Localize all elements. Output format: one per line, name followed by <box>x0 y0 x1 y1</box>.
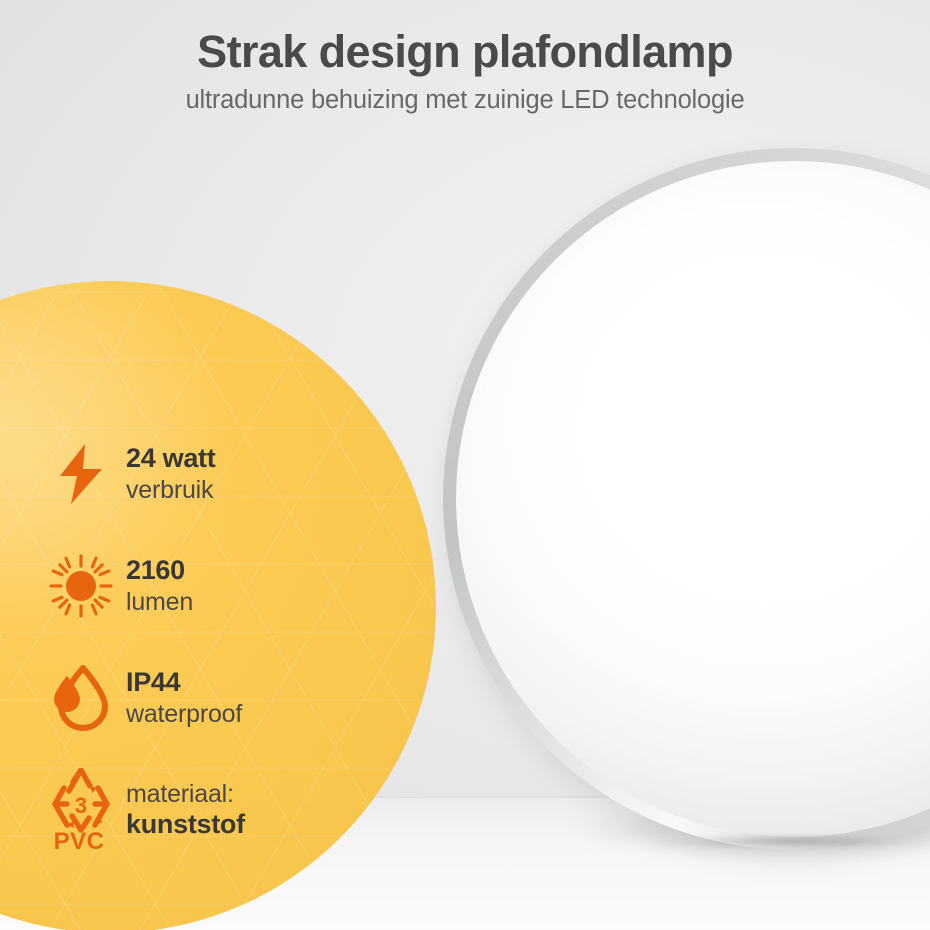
feature-label: materiaal: <box>126 779 245 809</box>
feature-item-lumen: 2160 lumen <box>42 530 342 642</box>
water-drop-icon <box>42 656 120 740</box>
pvc-resin-number: 3 <box>75 793 87 818</box>
feature-list: 24 watt verbruik <box>42 418 342 866</box>
lightning-bolt-icon <box>42 432 120 516</box>
feature-label: verbruik <box>126 475 215 505</box>
feature-label: lumen <box>126 587 193 617</box>
feature-value: IP44 <box>126 667 242 698</box>
pvc-caption: PVC <box>54 828 105 852</box>
feature-value: 24 watt <box>126 443 215 474</box>
page-subtitle: ultradunne behuizing met zuinige LED tec… <box>0 76 930 115</box>
feature-item-waterproof: IP44 waterproof <box>42 642 342 754</box>
feature-text-lumen: 2160 lumen <box>120 555 193 616</box>
page-title: Strak design plafondlamp <box>0 0 930 76</box>
lamp-contact-shadow <box>640 836 930 852</box>
pvc-recycling-icon: 3 PVC <box>42 768 120 852</box>
feature-value: kunststof <box>126 809 245 840</box>
infographic-canvas: Strak design plafondlamp ultradunne behu… <box>0 0 930 930</box>
sun-icon <box>42 544 120 628</box>
feature-text-power: 24 watt verbruik <box>120 443 215 504</box>
feature-value: 2160 <box>126 555 193 586</box>
feature-text-material: materiaal: kunststof <box>120 779 245 840</box>
feature-item-material: 3 PVC materiaal: kunststof <box>42 754 342 866</box>
header: Strak design plafondlamp ultradunne behu… <box>0 0 930 114</box>
feature-item-power: 24 watt verbruik <box>42 418 342 530</box>
feature-text-waterproof: IP44 waterproof <box>120 667 242 728</box>
feature-label: waterproof <box>126 699 242 729</box>
